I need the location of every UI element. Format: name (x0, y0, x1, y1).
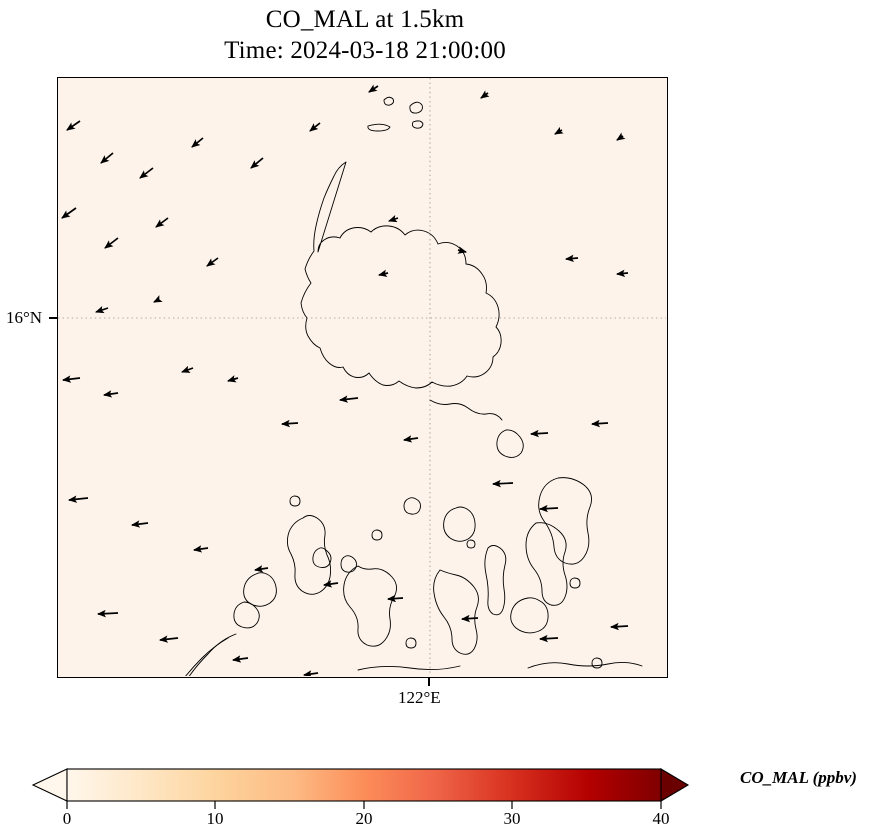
coast-islet-c5 (592, 658, 602, 668)
wind-vector-arrow (192, 138, 203, 147)
figure-title: CO_MAL at 1.5km Time: 2024-03-18 21:00:0… (0, 4, 730, 66)
wind-vector-arrow (540, 638, 558, 639)
wind-vector-arrow (228, 378, 238, 381)
coast-cebu (485, 546, 506, 615)
title-line-variable: CO_MAL at 1.5km (0, 4, 730, 35)
coast-islet-n2 (368, 124, 390, 131)
wind-vector-arrow (140, 168, 153, 178)
coast-luzon (301, 162, 501, 388)
coast-bicol (430, 400, 502, 420)
wind-vector-arrow (481, 93, 488, 98)
wind-vector-arrow (304, 673, 318, 675)
coast-south-edge (358, 666, 460, 670)
colorbar-tick-label-0: 0 (63, 809, 72, 829)
coast-catanduanes (497, 430, 523, 458)
coast-islet-c3 (467, 540, 475, 548)
colorbar-tick-label-30: 30 (504, 809, 521, 829)
wind-vector-arrow (340, 398, 358, 400)
map-plot-area (57, 77, 668, 678)
coast-mindanao-north (528, 662, 642, 668)
coast-panay (344, 566, 397, 646)
coast-islet-c2 (372, 530, 382, 540)
wind-vector-arrow (63, 378, 80, 380)
wind-vector-arrow (154, 300, 158, 302)
wind-vector-arrow (566, 258, 578, 259)
colorbar-tick-label-20: 20 (356, 809, 373, 829)
wind-vector-arrow (389, 218, 398, 221)
wind-vector-arrow (156, 218, 168, 227)
coast-masbate (444, 507, 476, 541)
wind-vector-arrow (617, 273, 628, 274)
wind-vector-arrow (458, 250, 466, 252)
wind-vector-arrow (369, 86, 378, 92)
wind-vector-arrow (98, 613, 118, 614)
wind-vector-arrow (282, 423, 298, 424)
wind-vector-arrow (69, 498, 88, 500)
wind-vector-arrow (105, 238, 118, 248)
wind-vector-arrow (379, 273, 388, 275)
colorbar-tick-label-10: 10 (207, 809, 224, 829)
wind-vector-arrow (611, 626, 628, 627)
wind-vector-arrow (462, 618, 478, 619)
wind-vector-arrow (207, 258, 218, 266)
wind-vector-arrow (540, 508, 558, 509)
wind-vector-layer (62, 86, 628, 675)
title-line-time: Time: 2024-03-18 21:00:00 (0, 35, 730, 66)
wind-vector-arrow (388, 598, 403, 599)
colorbar-gradient-bar (67, 769, 661, 801)
wind-vector-arrow (404, 438, 418, 440)
colorbar-ticks (67, 801, 661, 809)
colorbar-extend-max (661, 769, 688, 801)
wind-vector-arrow (310, 123, 320, 131)
coastlines (160, 97, 642, 676)
wind-vector-arrow (555, 130, 562, 134)
wind-vector-arrow (182, 368, 193, 372)
wind-vector-arrow (617, 136, 623, 140)
wind-vector-arrow (194, 548, 208, 550)
wind-vector-arrow (132, 523, 148, 525)
ytick-label-16N: 16°N (6, 308, 42, 328)
coast-palawan-2 (168, 634, 236, 676)
wind-vector-arrow (493, 483, 513, 484)
colorbar-title: CO_MAL (ppbv) (740, 768, 857, 788)
wind-vector-arrow (233, 658, 248, 660)
coast-marinduque (404, 498, 421, 514)
coast-islet-c6 (406, 638, 416, 648)
coast-islet-n3 (410, 102, 423, 113)
coast-islet-c1 (290, 496, 300, 506)
coast-leyte (526, 523, 567, 606)
coast-islet-c4 (570, 578, 580, 588)
xtick-mark-122E (428, 678, 430, 686)
wind-vector-arrow (62, 208, 76, 218)
coast-busuanga (244, 573, 277, 607)
wind-vector-arrow (101, 153, 113, 163)
coast-negros (434, 570, 479, 654)
coast-bohol (511, 598, 548, 633)
wind-vector-arrow (104, 393, 118, 395)
figure-canvas: CO_MAL at 1.5km Time: 2024-03-18 21:00:0… (0, 0, 889, 836)
ytick-mark-16N (49, 317, 57, 319)
wind-vector-arrow (255, 568, 268, 570)
map-graphics (58, 78, 666, 676)
wind-vector-arrow (160, 638, 178, 640)
wind-vector-arrow (592, 423, 608, 424)
wind-vector-arrow (67, 121, 80, 130)
coast-islet-n4 (412, 121, 423, 128)
wind-vector-arrow (96, 308, 108, 312)
xtick-label-122E: 122°E (398, 688, 441, 708)
coast-mindoro (287, 516, 330, 595)
coast-romblon (341, 556, 357, 572)
wind-vector-arrow (324, 583, 338, 585)
colorbar-extend-min (33, 769, 67, 801)
coast-islet-n1 (384, 97, 394, 105)
wind-vector-arrow (531, 433, 548, 434)
colorbar-tick-label-40: 40 (653, 809, 670, 829)
wind-vector-arrow (251, 158, 263, 168)
